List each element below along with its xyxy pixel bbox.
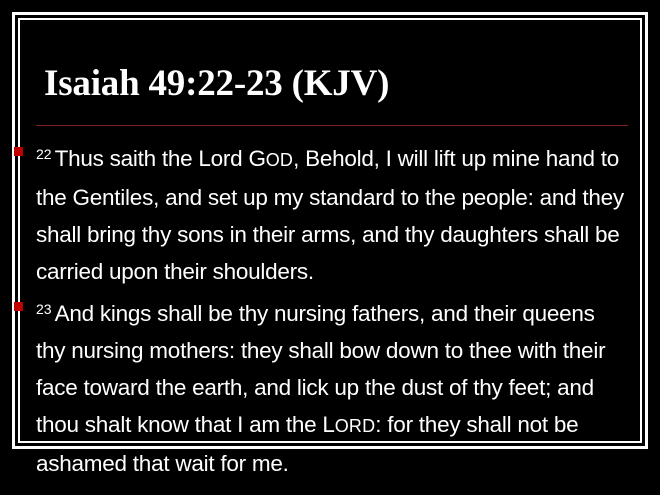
verse-paragraph: 22Thus saith the Lord GOD, Behold, I wil… (36, 136, 628, 290)
verse-paragraph: 23And kings shall be thy nursing fathers… (36, 291, 628, 482)
title-divider (36, 125, 628, 126)
divine-name-smallcaps: ORD (335, 416, 376, 436)
page-title: Isaiah 49:22-23 (KJV) (44, 62, 624, 106)
slide-content: Isaiah 49:22-23 (KJV) 22Thus saith the L… (0, 0, 660, 495)
scripture-slide: Isaiah 49:22-23 (KJV) 22Thus saith the L… (0, 0, 660, 495)
red-square-bullet-icon (14, 302, 23, 311)
verse-number: 22 (36, 146, 55, 162)
verse-number: 23 (36, 301, 55, 317)
red-square-bullet-icon (14, 147, 23, 156)
scripture-body: 22Thus saith the Lord GOD, Behold, I wil… (36, 136, 628, 482)
verse-text: Thus saith the Lord G (55, 146, 266, 171)
divine-name-smallcaps: OD (266, 150, 293, 170)
